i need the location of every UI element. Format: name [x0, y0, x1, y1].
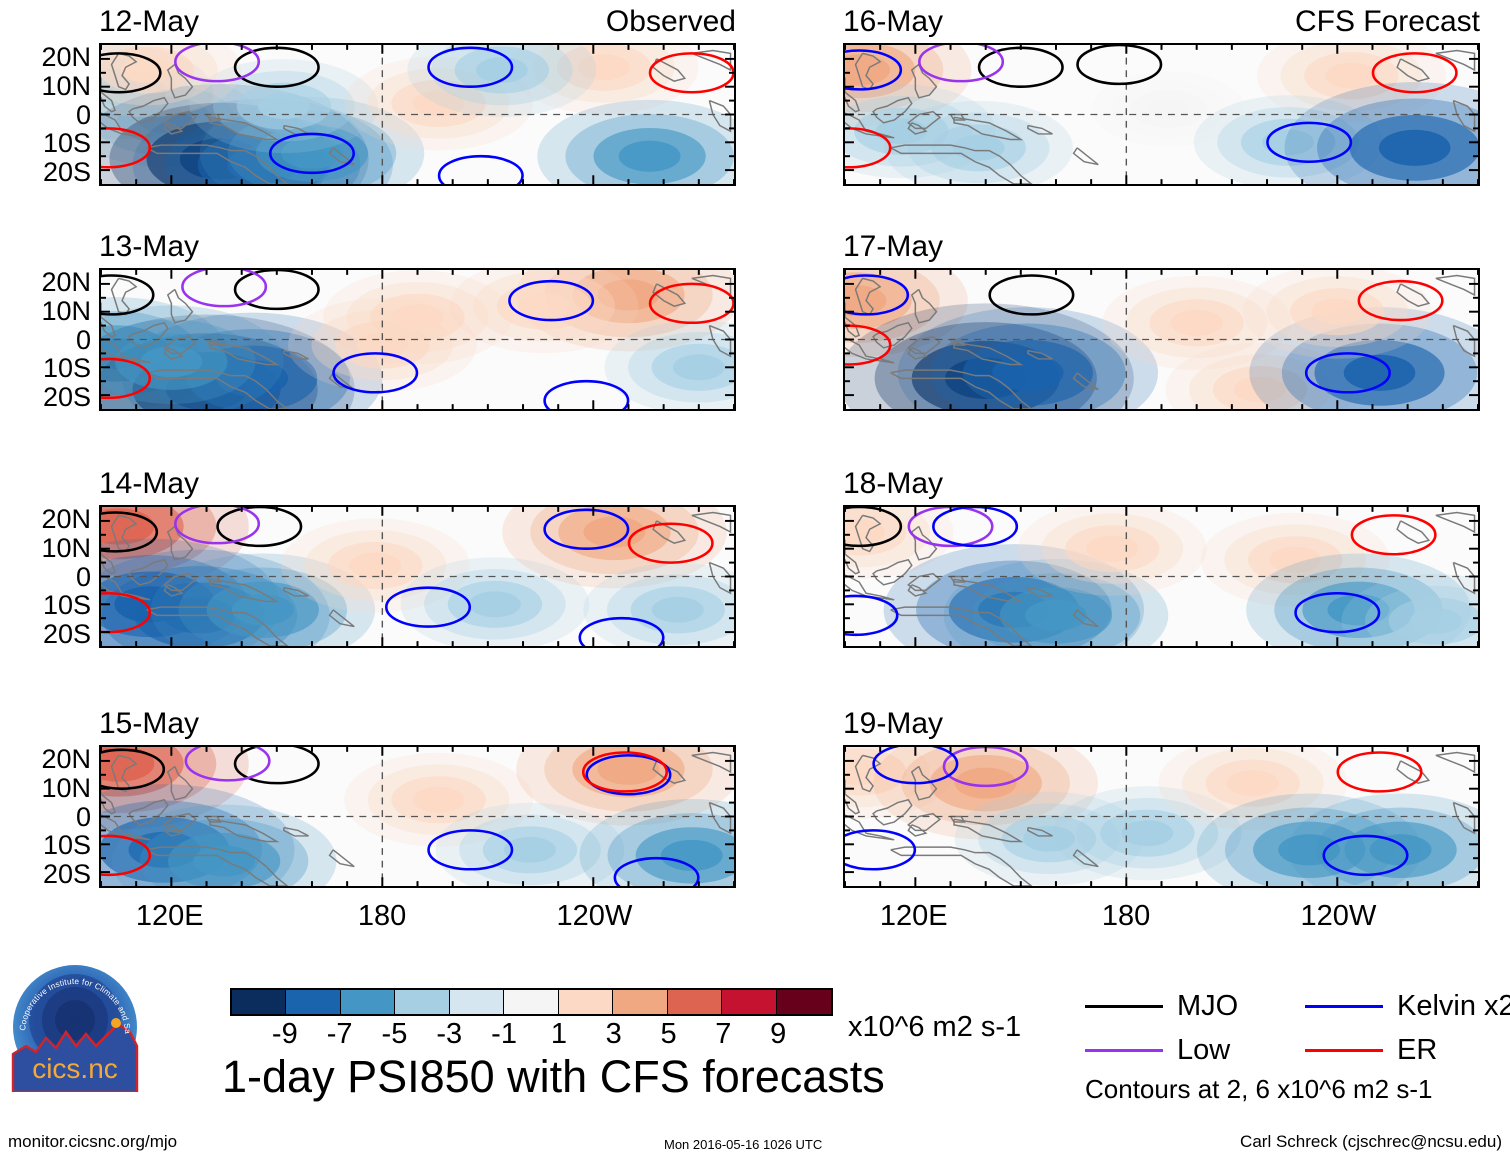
legend-item-mjo: MJO: [1085, 992, 1238, 1021]
panel-date-label: 12-May: [99, 7, 199, 37]
map-plot-area: [99, 745, 736, 888]
colorbar-tick-label: 7: [715, 1020, 731, 1049]
svg-text:cics.nc: cics.nc: [32, 1053, 118, 1084]
map-plot-area: [843, 745, 1480, 888]
y-axis-tick-label: 10S: [43, 130, 91, 157]
panel-date-label: 13-May: [99, 232, 199, 262]
legend-item-er: ER: [1305, 1036, 1437, 1065]
y-axis-tick-label: 20N: [41, 746, 91, 773]
mjo-monitor-figure: 12-MayObserved20N10N010S20S13-May20N10N0…: [0, 0, 1510, 1158]
y-axis-tick-label: 20N: [41, 269, 91, 296]
colorbar-tick-label: 9: [770, 1020, 786, 1049]
colorbar-tick-label: -3: [436, 1020, 462, 1049]
colorbar-swatches: [230, 988, 833, 1016]
x-axis-tick-label: 120E: [136, 902, 204, 931]
map-panel-16-may: 16-MayCFS Forecast: [843, 43, 1480, 186]
colorbar-cell: [395, 990, 449, 1014]
panel-date-label: 16-May: [843, 7, 943, 37]
y-axis-tick-label: 10N: [41, 535, 91, 562]
map-panel-17-may: 17-May: [843, 268, 1480, 411]
y-axis-tick-label: 20S: [43, 384, 91, 411]
y-axis-tick-label: 20S: [43, 861, 91, 888]
legend-label-er: ER: [1397, 1036, 1437, 1065]
colorbar: -9-7-5-3-113579: [230, 988, 833, 1016]
panel-date-label: 17-May: [843, 232, 943, 262]
colorbar-cell: [722, 990, 776, 1014]
map-panel-19-may: 19-May120E180120W: [843, 745, 1480, 888]
colorbar-cell: [341, 990, 395, 1014]
y-axis-tick-label: 10N: [41, 73, 91, 100]
map-plot-area: [99, 43, 736, 186]
colorbar-cell: [450, 990, 504, 1014]
y-axis-tick-label: 20N: [41, 44, 91, 71]
y-axis-tick-label: 10S: [43, 592, 91, 619]
contour-interval-note: Contours at 2, 6 x10^6 m2 s-1: [1085, 1076, 1432, 1102]
y-axis-tick-label: 0: [76, 327, 91, 354]
map-panel-12-may: 12-MayObserved20N10N010S20S: [99, 43, 736, 186]
y-axis-tick-label: 0: [76, 804, 91, 831]
map-panel-14-may: 14-May20N10N010S20S: [99, 505, 736, 648]
kelvin-line-icon: [1305, 1005, 1383, 1008]
panel-date-label: 15-May: [99, 709, 199, 739]
map-plot-area: [843, 505, 1480, 648]
colorbar-tick-label: 3: [606, 1020, 622, 1049]
x-axis-tick-label: 180: [358, 902, 406, 931]
map-plot-area: [843, 268, 1480, 411]
footer-url[interactable]: monitor.cicsnc.org/mjo: [8, 1133, 177, 1150]
x-axis-tick-label: 120E: [880, 902, 948, 931]
map-panel-18-may: 18-May: [843, 505, 1480, 648]
colorbar-cell: [668, 990, 722, 1014]
y-axis-tick-label: 10S: [43, 832, 91, 859]
colorbar-units-label: x10^6 m2 s-1: [848, 1013, 1021, 1042]
colorbar-cell: [504, 990, 558, 1014]
panel-date-label: 19-May: [843, 709, 943, 739]
low-line-icon: [1085, 1049, 1163, 1052]
y-axis-tick-label: 10N: [41, 775, 91, 802]
mjo-line-icon: [1085, 1005, 1163, 1008]
colorbar-tick-label: -1: [491, 1020, 517, 1049]
map-plot-area: [99, 505, 736, 648]
colorbar-tick-label: -5: [382, 1020, 408, 1049]
x-axis-tick-label: 180: [1102, 902, 1150, 931]
map-panel-15-may: 15-May20N10N010S20S120E180120W: [99, 745, 736, 888]
colorbar-tick-label: -9: [272, 1020, 298, 1049]
y-axis-tick-label: 20S: [43, 159, 91, 186]
footer-timestamp: Mon 2016-05-16 1026 UTC: [664, 1136, 822, 1153]
contour-legend: MJO Kelvin x2 Low ER: [1085, 992, 1505, 1072]
column-title: Observed: [606, 7, 736, 37]
y-axis-tick-label: 20S: [43, 621, 91, 648]
map-plot-area: [843, 43, 1480, 186]
colorbar-tick-label: -7: [327, 1020, 353, 1049]
map-panel-13-may: 13-May20N10N010S20S: [99, 268, 736, 411]
colorbar-cell: [559, 990, 613, 1014]
colorbar-tick-label: 1: [551, 1020, 567, 1049]
colorbar-cell: [777, 990, 831, 1014]
colorbar-cell: [613, 990, 667, 1014]
map-plot-area: [99, 268, 736, 411]
legend-label-mjo: MJO: [1177, 992, 1238, 1021]
footer-author: Carl Schreck (cjschrec@ncsu.edu): [1240, 1133, 1502, 1150]
legend-item-low: Low: [1085, 1036, 1230, 1065]
panel-date-label: 18-May: [843, 469, 943, 499]
legend-label-low: Low: [1177, 1036, 1230, 1065]
y-axis-tick-label: 0: [76, 102, 91, 129]
colorbar-cell: [286, 990, 340, 1014]
y-axis-tick-label: 10S: [43, 355, 91, 382]
panel-date-label: 14-May: [99, 469, 199, 499]
cics-nc-logo[interactable]: Cooperative Institute for Climate and Sa…: [10, 962, 140, 1092]
colorbar-cell: [232, 990, 286, 1014]
legend-item-kelvin: Kelvin x2: [1305, 992, 1510, 1021]
legend-label-kelvin: Kelvin x2: [1397, 992, 1510, 1021]
y-axis-tick-label: 20N: [41, 506, 91, 533]
x-axis-tick-label: 120W: [1301, 902, 1377, 931]
page-title: 1-day PSI850 with CFS forecasts: [222, 1054, 885, 1099]
colorbar-tick-label: 5: [660, 1020, 676, 1049]
x-axis-tick-label: 120W: [557, 902, 633, 931]
er-line-icon: [1305, 1049, 1383, 1052]
y-axis-tick-label: 10N: [41, 298, 91, 325]
y-axis-tick-label: 0: [76, 564, 91, 591]
column-title: CFS Forecast: [1295, 7, 1480, 37]
